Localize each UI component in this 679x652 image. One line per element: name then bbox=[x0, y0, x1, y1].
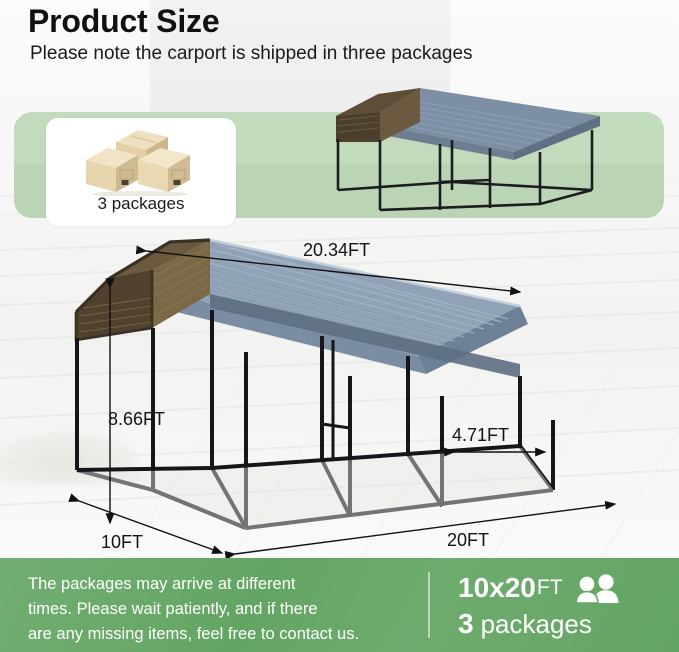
footer-packages-word: packages bbox=[481, 607, 592, 641]
footer-size-row: 10x20 FT bbox=[458, 570, 621, 606]
footer-divider bbox=[428, 572, 430, 638]
cardboard-boxes-icon bbox=[76, 124, 206, 196]
dimension-label-depth: 10FT bbox=[101, 532, 143, 553]
shipping-note-line-3: are any missing items, feel free to cont… bbox=[28, 622, 418, 647]
footer-bar: The packages may arrive at different tim… bbox=[0, 558, 679, 652]
product-size-infographic: Product Size Please note the carport is … bbox=[0, 0, 679, 652]
page-subtitle: Please note the carport is shipped in th… bbox=[30, 42, 668, 66]
carport-dimension-diagram bbox=[50, 228, 650, 558]
shipping-note-line-1: The packages may arrive at different bbox=[28, 572, 418, 597]
shipping-note: The packages may arrive at different tim… bbox=[28, 572, 418, 647]
package-badge-card: 3 packages bbox=[46, 118, 236, 226]
dimension-label-bay-spacing: 4.71FT bbox=[452, 425, 509, 446]
footer-size-unit: FT bbox=[537, 571, 563, 605]
dimension-label-roof-length: 20.34FT bbox=[303, 240, 370, 261]
package-badge-caption: 3 packages bbox=[98, 194, 185, 214]
header: Product Size Please note the carport is … bbox=[28, 2, 668, 66]
shipping-note-line-2: times. Please wait patiently, and if the… bbox=[28, 597, 418, 622]
footer-spec: 10x20 FT 3 packages bbox=[458, 570, 621, 642]
dimension-label-height: 8.66FT bbox=[108, 409, 165, 430]
two-people-icon bbox=[575, 573, 621, 603]
footer-size-value: 10x20 bbox=[458, 571, 536, 605]
carport-preview-image bbox=[300, 82, 630, 222]
footer-packages-count: 3 bbox=[458, 607, 474, 641]
page-title: Product Size bbox=[28, 2, 668, 40]
footer-packages-row: 3 packages bbox=[458, 606, 621, 642]
dimension-label-length: 20FT bbox=[447, 530, 489, 551]
